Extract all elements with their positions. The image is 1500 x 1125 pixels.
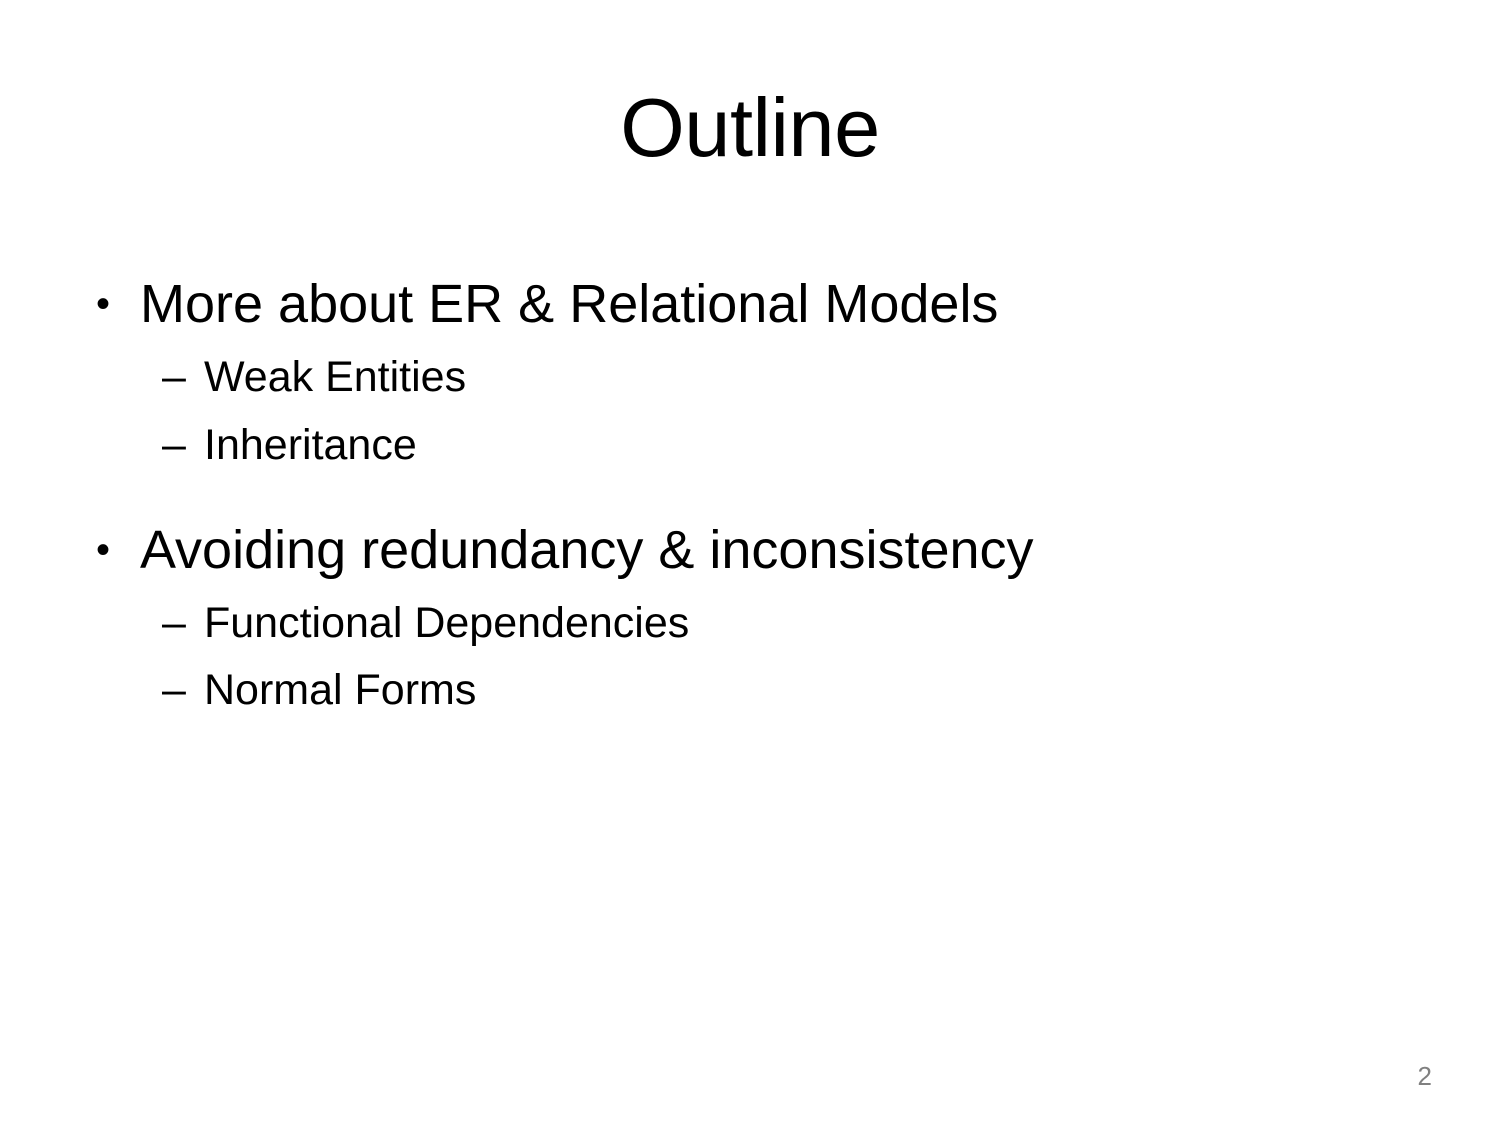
list-item-label: Functional Dependencies [204, 596, 1418, 652]
dash-bullet-icon: – [154, 418, 204, 474]
presentation-slide: Outline • More about ER & Relational Mod… [0, 0, 1500, 1125]
list-item: – Functional Dependencies [154, 596, 1418, 652]
dash-bullet-icon: – [154, 663, 204, 719]
list-item-label: Normal Forms [204, 663, 1418, 719]
list-item: • More about ER & Relational Models [88, 272, 1418, 338]
list-item-label: Inheritance [204, 418, 1418, 474]
bullet-point-icon: • [88, 518, 140, 584]
slide-body-content: • More about ER & Relational Models – We… [88, 272, 1418, 729]
slide-page-number: 2 [1418, 1063, 1432, 1089]
bullet-point-icon: • [88, 272, 140, 338]
list-item-label: More about ER & Relational Models [140, 272, 1418, 338]
list-item: • Avoiding redundancy & inconsistency [88, 518, 1418, 584]
list-item-label: Weak Entities [204, 350, 1418, 406]
list-item: – Normal Forms [154, 663, 1418, 719]
list-item: – Weak Entities [154, 350, 1418, 406]
page-title: Outline [112, 84, 1388, 171]
dash-bullet-icon: – [154, 350, 204, 406]
list-group-spacer [88, 484, 1418, 518]
list-item: – Inheritance [154, 418, 1418, 474]
dash-bullet-icon: – [154, 596, 204, 652]
list-item-label: Avoiding redundancy & inconsistency [140, 518, 1418, 584]
